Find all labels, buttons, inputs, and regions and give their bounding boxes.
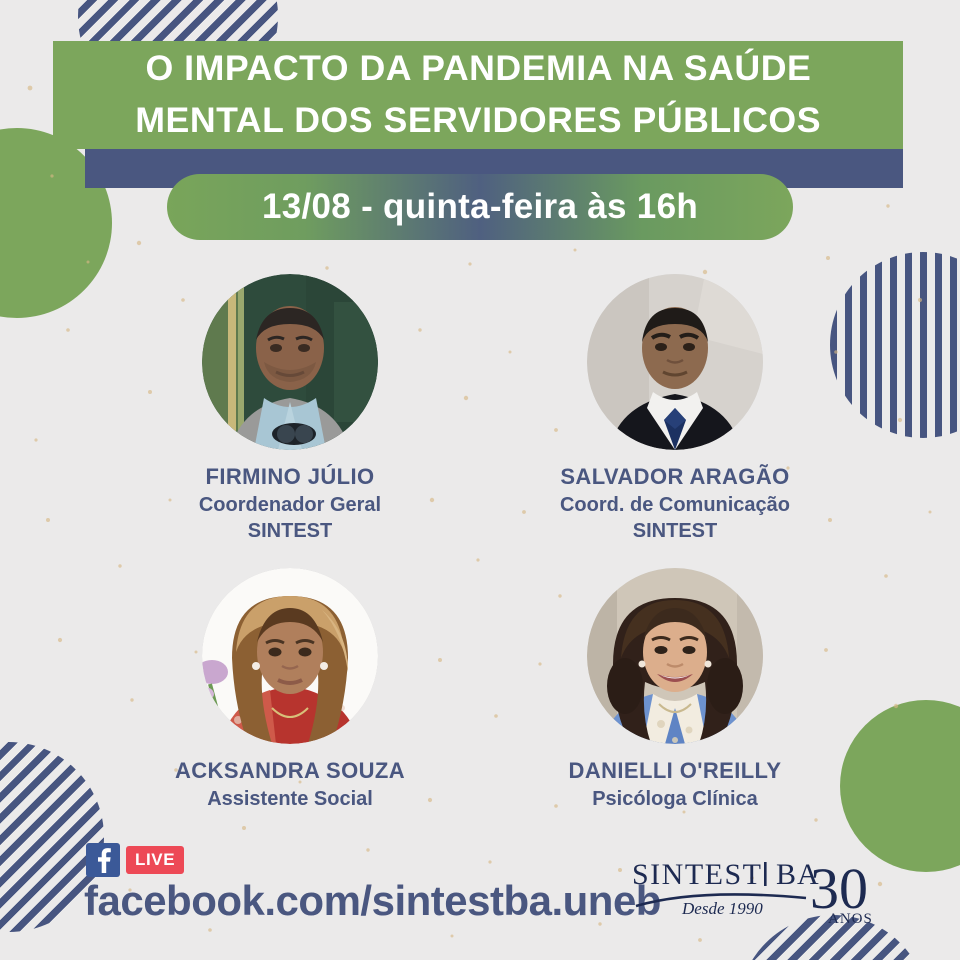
speaker-card-danielli-oreilly: DANIELLI O'REILLY Psicóloga Clínica (505, 568, 845, 812)
speaker-name: SALVADOR ARAGÃO (505, 464, 845, 490)
decor-striped-circle-right (830, 252, 960, 438)
speaker-name: DANIELLI O'REILLY (505, 758, 845, 784)
speaker-role: Coordenador Geral (120, 493, 460, 518)
live-badge: LIVE (126, 846, 184, 874)
speaker-name: ACKSANDRA SOUZA (120, 758, 460, 784)
facebook-live-badge-row: LIVE (86, 843, 184, 877)
speaker-card-acksandra-souza: ACKSANDRA SOUZA Assistente Social (120, 568, 460, 812)
logo-divider (764, 862, 767, 886)
speaker-card-firmino-julio: FIRMINO JÚLIO Coordenador Geral SINTEST (120, 274, 460, 544)
speaker-photo-acksandra-souza (202, 568, 378, 744)
logo-tagline: Desde 1990 (681, 899, 763, 918)
speaker-photo-firmino-julio (202, 274, 378, 450)
speaker-role: Assistente Social (120, 787, 460, 812)
speaker-photo-salvador-aragao (587, 274, 763, 450)
speaker-role: Psicóloga Clínica (505, 787, 845, 812)
page-title-line-2: MENTAL DOS SERVIDORES PÚBLICOS (135, 95, 821, 147)
decor-green-circle-right (840, 700, 960, 872)
speaker-card-salvador-aragao: SALVADOR ARAGÃO Coord. de Comunicação SI… (505, 274, 845, 544)
speaker-org: SINTEST (120, 519, 460, 544)
page-title-line-1: O IMPACTO DA PANDEMIA NA SAÚDE (145, 43, 811, 95)
title-banner: O IMPACTO DA PANDEMIA NA SAÚDE MENTAL DO… (53, 41, 903, 149)
facebook-icon (86, 843, 120, 877)
speaker-photo-danielli-oreilly (587, 568, 763, 744)
speaker-org: SINTEST (505, 519, 845, 544)
sintest-logo: SINTEST BA Desde 1990 30 ANOS (630, 852, 890, 932)
logo-anniversary-label: ANOS (828, 911, 873, 927)
facebook-page-url[interactable]: facebook.com/sintestba.uneb (84, 877, 661, 925)
event-date-text: 13/08 - quinta-feira às 16h (262, 187, 698, 227)
speaker-name: FIRMINO JÚLIO (120, 464, 460, 490)
speaker-role: Coord. de Comunicação (505, 493, 845, 518)
event-date-pill: 13/08 - quinta-feira às 16h (167, 174, 793, 240)
logo-wordmark: SINTEST (632, 858, 763, 891)
poster-canvas: O IMPACTO DA PANDEMIA NA SAÚDE MENTAL DO… (0, 0, 960, 960)
